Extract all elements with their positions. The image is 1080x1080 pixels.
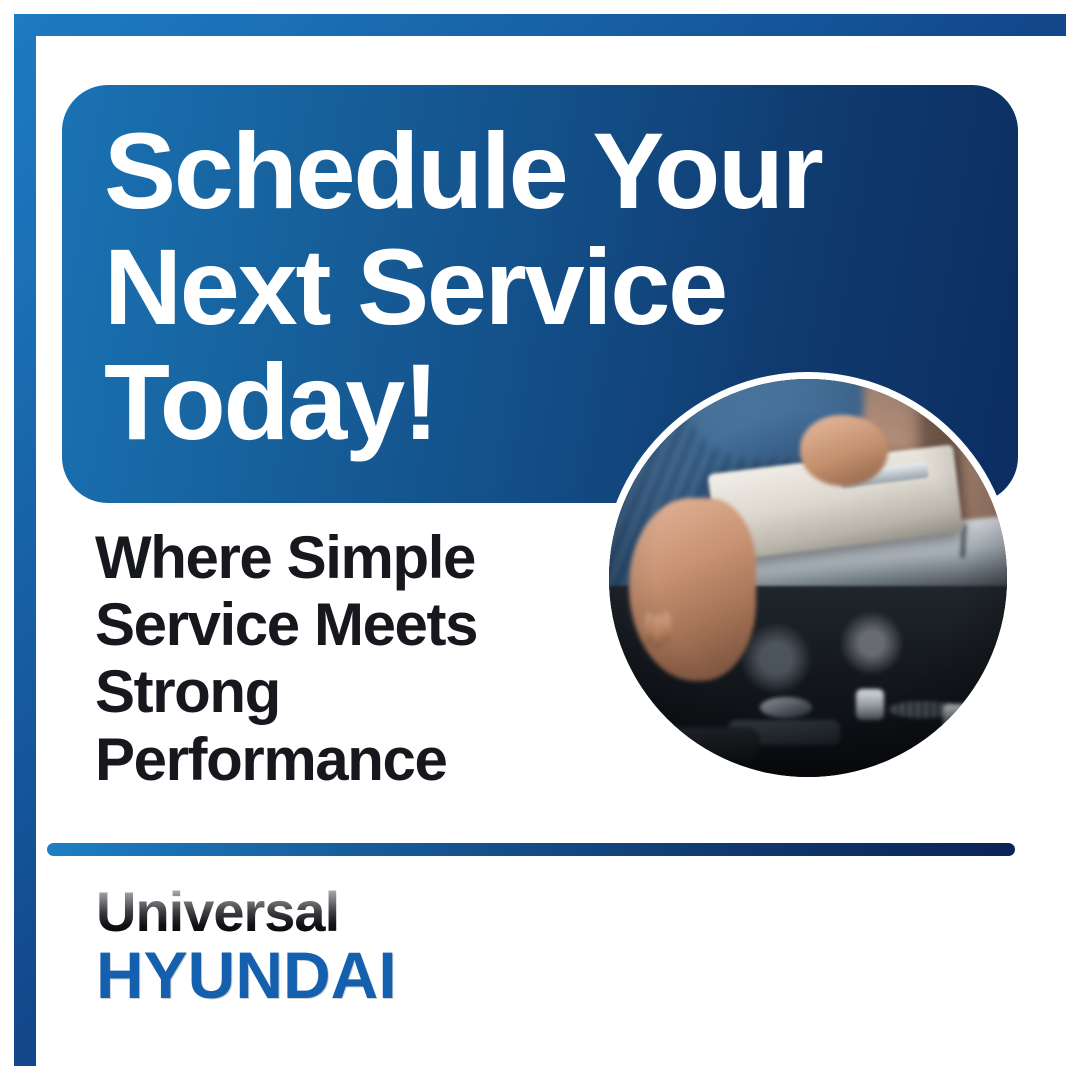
logo-word-hyundai: HYUNDAI — [96, 942, 397, 1008]
mechanic-photo — [609, 379, 1007, 777]
subheadline-text: Where Simple Service Meets Strong Perfor… — [95, 524, 615, 793]
brand-logo: Universal HYUNDAI — [96, 884, 397, 1008]
divider-bar — [47, 843, 1015, 856]
photo-vignette — [609, 379, 1007, 777]
promo-poster: Schedule Your Next Service Today! — [0, 0, 1080, 1080]
mechanic-photo-circle — [602, 372, 1014, 784]
logo-word-universal: Universal — [96, 884, 397, 940]
